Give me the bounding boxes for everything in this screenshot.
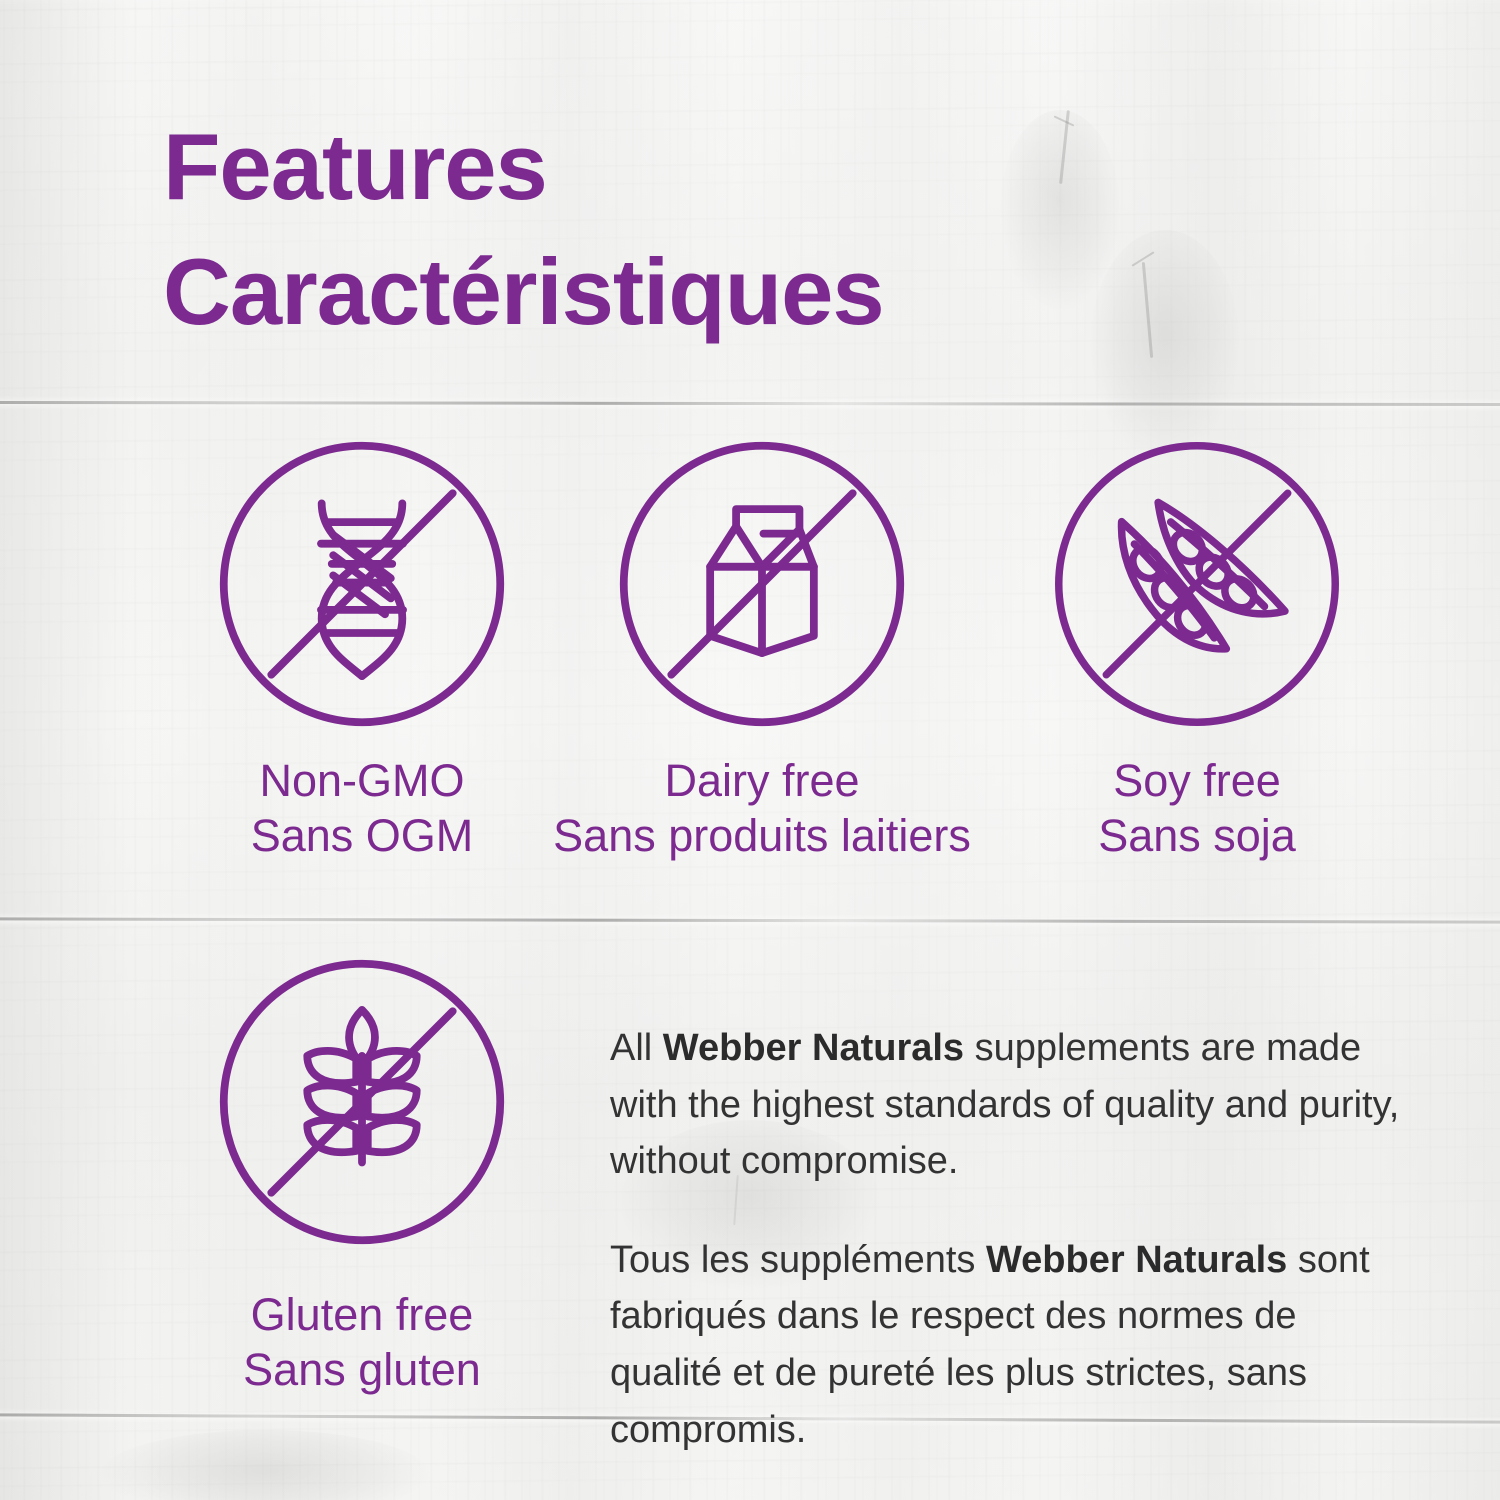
- feature-label-en: Gluten free: [251, 1289, 474, 1340]
- paragraph-english: All Webber Naturals supplements are made…: [610, 1020, 1410, 1190]
- no-soy-bean-pods-icon: [1053, 440, 1341, 728]
- feature-label-fr: Sans soja: [1098, 809, 1296, 864]
- feature-dairy-free: Dairy free Sans produits laitiers: [572, 440, 952, 864]
- feature-row-top: Non-GMO Sans OGM: [0, 440, 1500, 864]
- feature-label-en: Soy free: [1113, 755, 1281, 806]
- paragraph-fr-pre: Tous les suppléments: [610, 1239, 986, 1281]
- feature-label: Non-GMO Sans OGM: [251, 754, 474, 864]
- feature-label-fr: Sans gluten: [243, 1343, 481, 1398]
- feature-row-bottom: Gluten free Sans gluten All Webber Natur…: [0, 958, 1500, 1458]
- feature-label-fr: Sans produits laitiers: [553, 809, 971, 864]
- feature-soy-free: Soy free Sans soja: [997, 440, 1397, 864]
- page-title-fr: Caractéristiques: [163, 229, 884, 354]
- feature-label-en: Dairy free: [664, 755, 859, 806]
- feature-label: Gluten free Sans gluten: [243, 1288, 481, 1398]
- brand-name-en: Webber Naturals: [663, 1027, 964, 1069]
- page-title-en: Features: [163, 104, 884, 229]
- page-title: Features Caractéristiques: [163, 104, 884, 354]
- body-copy: All Webber Naturals supplements are made…: [610, 958, 1410, 1458]
- paragraph-en-pre: All: [610, 1027, 663, 1069]
- no-dairy-milk-carton-icon: [618, 440, 906, 728]
- feature-panel: Features Caractéristiques: [0, 0, 1500, 1500]
- no-gmo-dna-icon: [218, 440, 506, 728]
- no-gluten-wheat-icon: [218, 958, 506, 1246]
- brand-name-fr: Webber Naturals: [986, 1239, 1287, 1281]
- feature-non-gmo: Non-GMO Sans OGM: [132, 440, 592, 864]
- feature-label: Dairy free Sans produits laitiers: [553, 754, 971, 864]
- paragraph-french: Tous les suppléments Webber Naturals son…: [610, 1232, 1410, 1458]
- feature-label: Soy free Sans soja: [1098, 754, 1296, 864]
- feature-gluten-free: Gluten free Sans gluten: [132, 958, 592, 1398]
- feature-label-fr: Sans OGM: [251, 809, 474, 864]
- feature-label-en: Non-GMO: [259, 755, 464, 806]
